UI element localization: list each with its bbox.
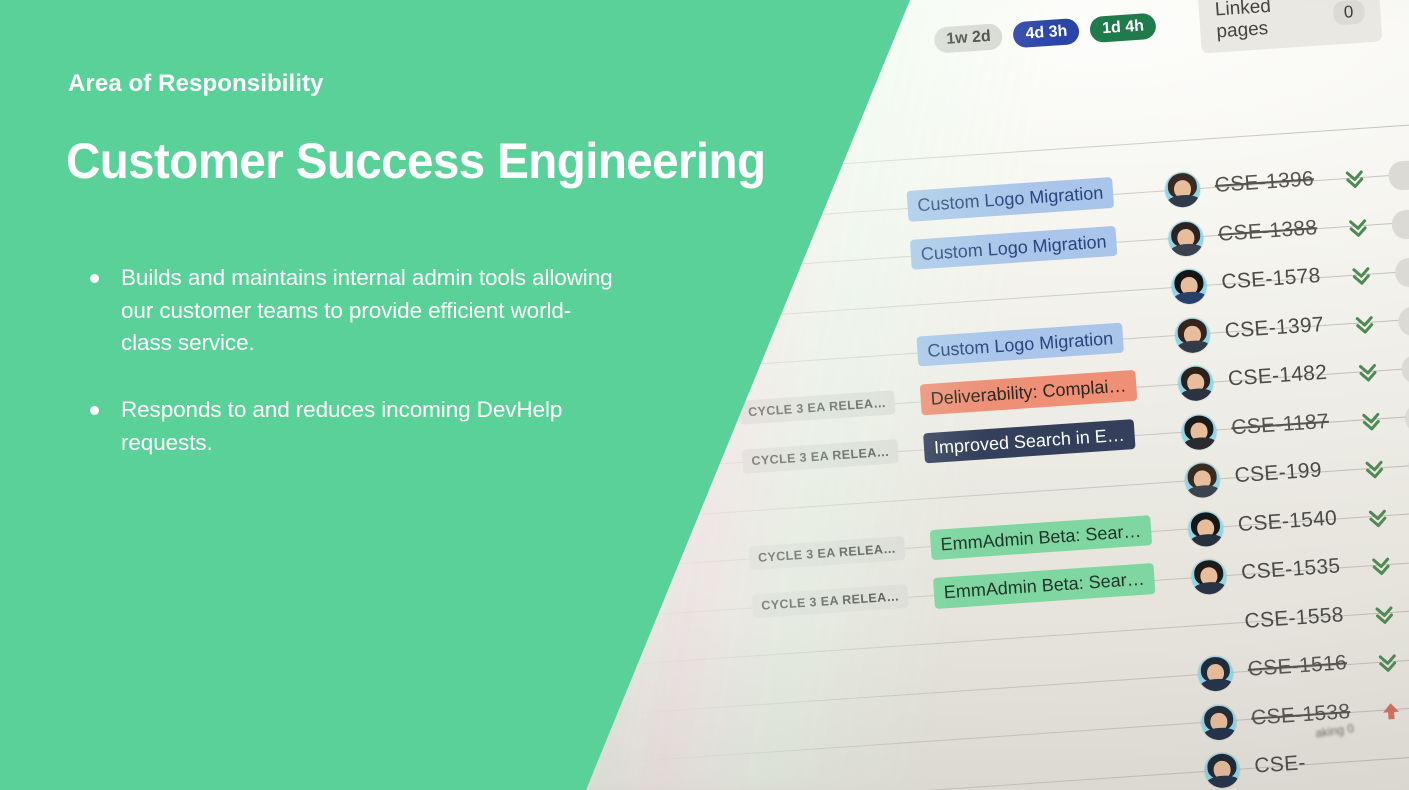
assignee-avatar[interactable] (1187, 510, 1224, 547)
priority-chevron-down-icon[interactable] (1367, 507, 1388, 530)
issue-key[interactable]: CSE- (1254, 751, 1307, 778)
priority-chevron-down-icon[interactable] (1364, 458, 1385, 481)
bullet-list: Builds and maintains internal admin tool… (88, 262, 618, 493)
duration-chip[interactable]: 1d (1398, 303, 1409, 336)
duration-chip[interactable]: - (1388, 158, 1409, 191)
issue-key[interactable]: CSE-1187 (1231, 409, 1330, 440)
assignee-avatar[interactable] (1203, 752, 1240, 789)
issue-key[interactable]: CSE-1578 (1221, 264, 1322, 295)
estimate-chip-3[interactable]: 1d 4h (1089, 13, 1156, 43)
assignee-avatar[interactable] (1177, 365, 1214, 402)
assignee-avatar[interactable] (1174, 316, 1211, 353)
bullet-text: Responds to and reduces incoming DevHelp… (121, 394, 618, 459)
cycle-label: CYCLE 3 EA RELEA… (742, 439, 900, 474)
issue-title-pill[interactable]: Custom Logo Migration (907, 177, 1115, 222)
priority-chevron-down-icon[interactable] (1347, 216, 1368, 239)
duration-chip[interactable]: 5h (1404, 400, 1409, 433)
slide-kicker: Area of Responsibility (68, 70, 324, 98)
priority-chevron-down-icon[interactable] (1361, 410, 1382, 433)
bullet-item: Responds to and reduces incoming DevHelp… (88, 394, 618, 459)
estimate-chip-1[interactable]: 1w 2d (933, 23, 1003, 54)
assignee-avatar[interactable] (1200, 703, 1237, 740)
assignee-avatar[interactable] (1167, 219, 1204, 256)
priority-chevron-down-icon[interactable] (1351, 265, 1372, 288)
priority-chevron-down-icon[interactable] (1377, 652, 1398, 675)
bullet-dot-icon (90, 406, 99, 415)
duration-chip[interactable]: - (1394, 255, 1409, 288)
slide-title: Customer Success Engineering (66, 135, 765, 188)
bullet-item: Builds and maintains internal admin tool… (88, 262, 618, 360)
assignee-avatar[interactable] (1184, 461, 1221, 498)
priority-chevron-down-icon[interactable] (1354, 313, 1375, 336)
board-toolbar: 1w 2d 4d 3h 1d 4h Linked pages 0 (932, 0, 1409, 72)
issue-key[interactable]: CSE-199 (1234, 458, 1323, 488)
issue-key[interactable]: CSE-1397 (1224, 312, 1325, 343)
estimate-chip-2[interactable]: 4d 3h (1013, 18, 1080, 48)
issue-key[interactable]: CSE-1388 (1217, 216, 1318, 247)
issue-key[interactable]: CSE-1396 (1214, 167, 1315, 198)
assignee-avatar[interactable] (1190, 558, 1227, 595)
cycle-label: CYCLE 3 EA RELEA… (752, 584, 910, 619)
priority-chevron-down-icon[interactable] (1344, 168, 1365, 191)
priority-chevron-down-icon[interactable] (1374, 603, 1395, 626)
assignee-avatar[interactable] (1171, 268, 1208, 305)
linked-pages-label: Linked pages (1214, 0, 1318, 43)
issue-key[interactable]: CSE-1558 (1244, 603, 1345, 634)
issue-key[interactable]: CSE-1482 (1227, 361, 1328, 392)
slide-canvas: 1w 2d 4d 3h 1d 4h Linked pages 0 Custom … (0, 0, 1409, 790)
assignee-avatar[interactable] (1164, 171, 1201, 208)
duration-chip[interactable]: 5h (1391, 206, 1409, 239)
cycle-label: CYCLE 3 EA RELEA… (738, 390, 896, 425)
bullet-text: Builds and maintains internal admin tool… (121, 262, 618, 360)
priority-chevron-down-icon[interactable] (1370, 555, 1391, 578)
cycle-label: CYCLE 3 EA RELEA… (748, 535, 906, 570)
issue-key[interactable]: CSE-1540 (1237, 506, 1338, 537)
issue-key[interactable]: CSE-1516 (1247, 651, 1348, 682)
linked-pages-count: 0 (1332, 0, 1365, 26)
assignee-avatar[interactable] (1180, 413, 1217, 450)
issue-key[interactable]: CSE-1535 (1240, 554, 1341, 585)
duration-chip[interactable]: 2d 3h (1401, 351, 1409, 384)
corner-text-right: aking 0 (1315, 714, 1409, 790)
bullet-dot-icon (90, 274, 99, 283)
assignee-avatar[interactable] (1197, 655, 1234, 692)
linked-pages-chip[interactable]: Linked pages 0 (1198, 0, 1383, 54)
priority-chevron-down-icon[interactable] (1357, 361, 1378, 384)
